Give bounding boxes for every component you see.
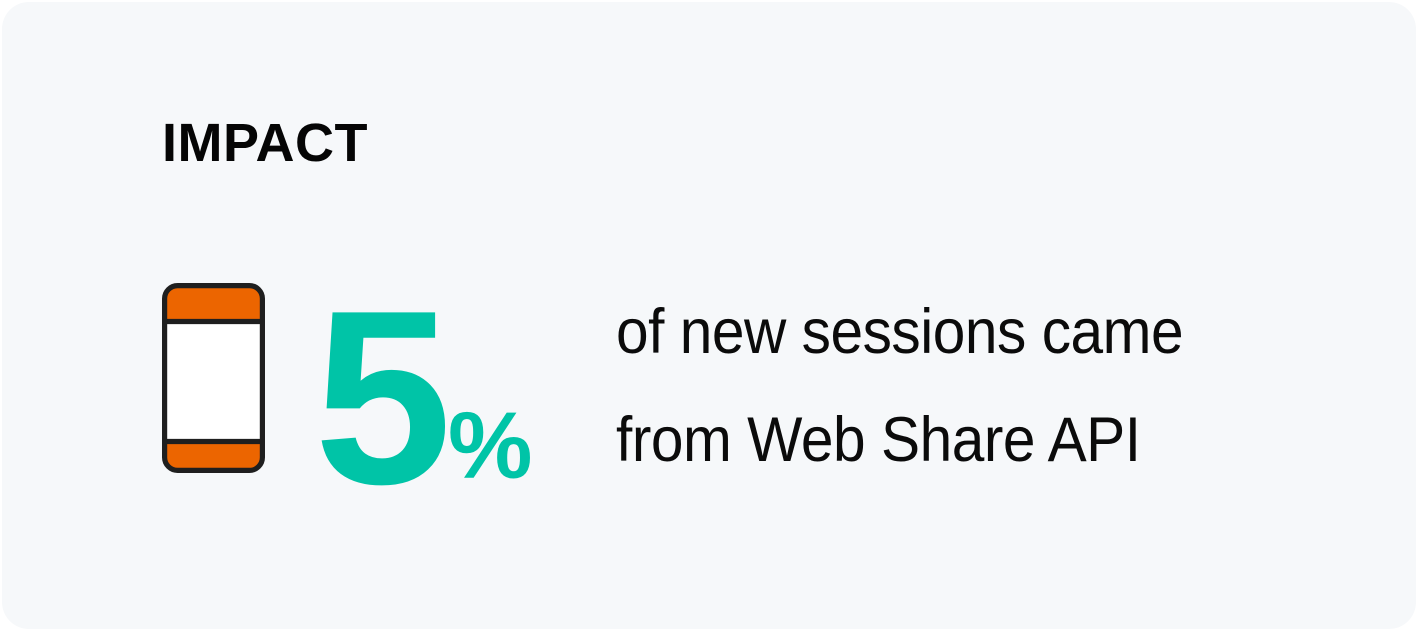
- stat-unit: %: [448, 408, 530, 486]
- stat-figure: 5 %: [314, 264, 530, 494]
- stat-row: 5 % of new sessions came from Web Share …: [2, 264, 1416, 494]
- stat-description-line-1: of new sessions came: [616, 278, 1286, 386]
- mobile-phone-icon: [162, 283, 265, 473]
- page-title: IMPACT: [162, 114, 368, 173]
- stat-description: of new sessions came from Web Share API: [616, 278, 1286, 495]
- stat-description-line-2: from Web Share API: [616, 386, 1286, 494]
- stat-value: 5: [314, 301, 446, 494]
- impact-stat-card: IMPACT 5 % of new sessions came: [2, 2, 1416, 629]
